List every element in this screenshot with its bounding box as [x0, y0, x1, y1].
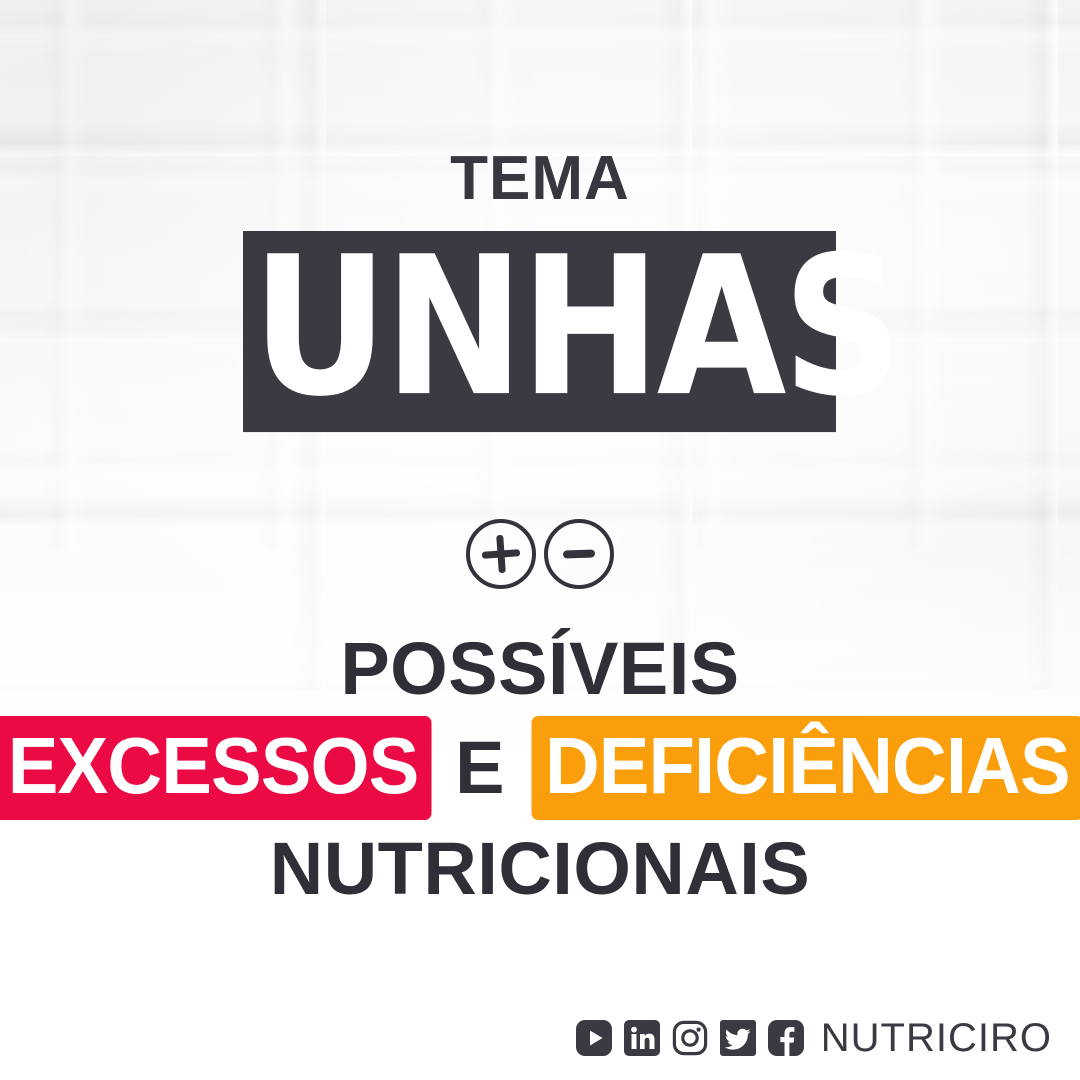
- headline-line-possiveis: POSSÍVEIS: [0, 632, 1080, 706]
- headline-line-nutricionais: NUTRICIONAIS: [0, 832, 1080, 906]
- content-layer: TEMA UNHAS POSSÍVEIS EXCESSOS E DEFICIÊN…: [0, 0, 1080, 1080]
- headline-conjunction: E: [455, 731, 504, 805]
- eyebrow-label: TEMA: [0, 148, 1080, 210]
- footer-bar: NUTRICIRO: [575, 1018, 1052, 1058]
- plus-icon: [466, 519, 536, 589]
- linkedin-icon[interactable]: [623, 1019, 661, 1057]
- poster-canvas: TEMA UNHAS POSSÍVEIS EXCESSOS E DEFICIÊN…: [0, 0, 1080, 1080]
- chip-excessos: EXCESSOS: [0, 716, 432, 820]
- instagram-icon[interactable]: [671, 1019, 709, 1057]
- youtube-icon[interactable]: [575, 1019, 613, 1057]
- title-word: UNHAS: [252, 232, 827, 424]
- plus-minus-row: [0, 519, 1080, 589]
- chip-deficiencias: DEFICIÊNCIAS: [531, 716, 1080, 820]
- twitter-icon[interactable]: [719, 1019, 757, 1057]
- headline-line-chips: EXCESSOS E DEFICIÊNCIAS: [0, 716, 1080, 820]
- title-plate: UNHAS: [243, 231, 836, 432]
- headline-block: POSSÍVEIS EXCESSOS E DEFICIÊNCIAS NUTRIC…: [0, 632, 1080, 906]
- minus-icon: [544, 519, 614, 589]
- facebook-icon[interactable]: [767, 1019, 805, 1057]
- brand-name: NUTRICIRO: [821, 1018, 1052, 1058]
